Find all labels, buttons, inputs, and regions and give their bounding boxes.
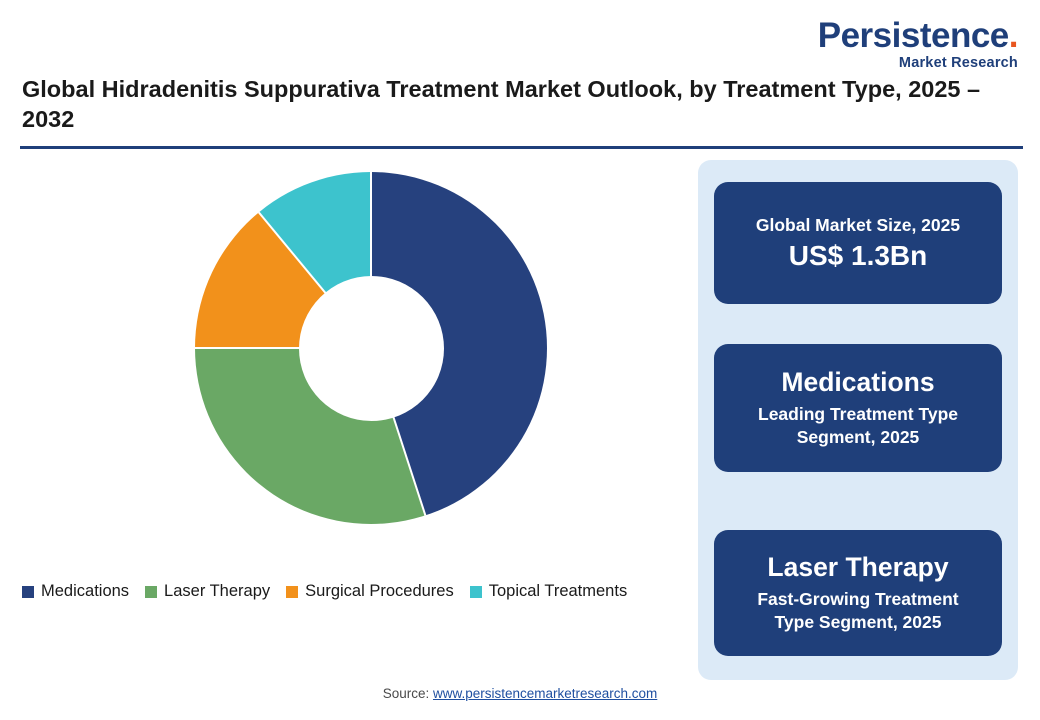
legend-item[interactable]: Topical Treatments — [470, 582, 627, 601]
source-label: Source: — [383, 686, 433, 701]
legend-swatch-icon — [470, 586, 482, 598]
market-size-caption: Global Market Size, 2025 — [756, 214, 960, 237]
donut-graphic — [195, 172, 547, 524]
logo-wordmark: Persistence. — [818, 18, 1018, 53]
title-divider — [20, 146, 1023, 149]
fast-growing-segment-caption-line1: Fast-Growing Treatment — [757, 588, 958, 611]
legend-label: Surgical Procedures — [305, 582, 454, 601]
donut-chart — [150, 160, 710, 580]
legend-label: Laser Therapy — [164, 582, 270, 601]
donut-separator — [195, 347, 371, 349]
leading-segment-caption-line1: Leading Treatment Type — [758, 403, 958, 426]
legend-label: Medications — [41, 582, 129, 601]
legend-item[interactable]: Medications — [22, 582, 129, 601]
legend-swatch-icon — [286, 586, 298, 598]
market-size-value: US$ 1.3Bn — [789, 240, 928, 272]
legend-swatch-icon — [22, 586, 34, 598]
fast-growing-segment-name: Laser Therapy — [767, 552, 948, 583]
highlight-card-leading-segment: Medications Leading Treatment Type Segme… — [714, 344, 1002, 472]
logo-tagline: Market Research — [818, 56, 1018, 71]
donut-separator — [370, 172, 372, 348]
leading-segment-name: Medications — [781, 367, 934, 398]
highlight-card-market-size: Global Market Size, 2025 US$ 1.3Bn — [714, 182, 1002, 304]
chart-page: Persistence. Market Research Global Hidr… — [0, 0, 1040, 720]
legend-label: Topical Treatments — [489, 582, 627, 601]
company-logo: Persistence. Market Research — [818, 18, 1018, 71]
legend-swatch-icon — [145, 586, 157, 598]
highlight-card-fast-growing-segment: Laser Therapy Fast-Growing Treatment Typ… — [714, 530, 1002, 656]
legend-item[interactable]: Surgical Procedures — [286, 582, 454, 601]
highlights-panel: Global Market Size, 2025 US$ 1.3Bn Medic… — [698, 160, 1018, 680]
source-link[interactable]: www.persistencemarketresearch.com — [433, 686, 657, 701]
legend-item[interactable]: Laser Therapy — [145, 582, 270, 601]
chart-legend: MedicationsLaser TherapySurgical Procedu… — [22, 582, 627, 601]
source-note: Source: www.persistencemarketresearch.co… — [0, 686, 1040, 701]
logo-name-part1: Persistence — [818, 16, 1009, 55]
leading-segment-caption-line2: Segment, 2025 — [797, 426, 920, 449]
fast-growing-segment-caption-line2: Type Segment, 2025 — [775, 611, 942, 634]
page-title: Global Hidradenitis Suppurativa Treatmen… — [22, 74, 1012, 134]
logo-accent-dot: . — [1009, 16, 1018, 55]
